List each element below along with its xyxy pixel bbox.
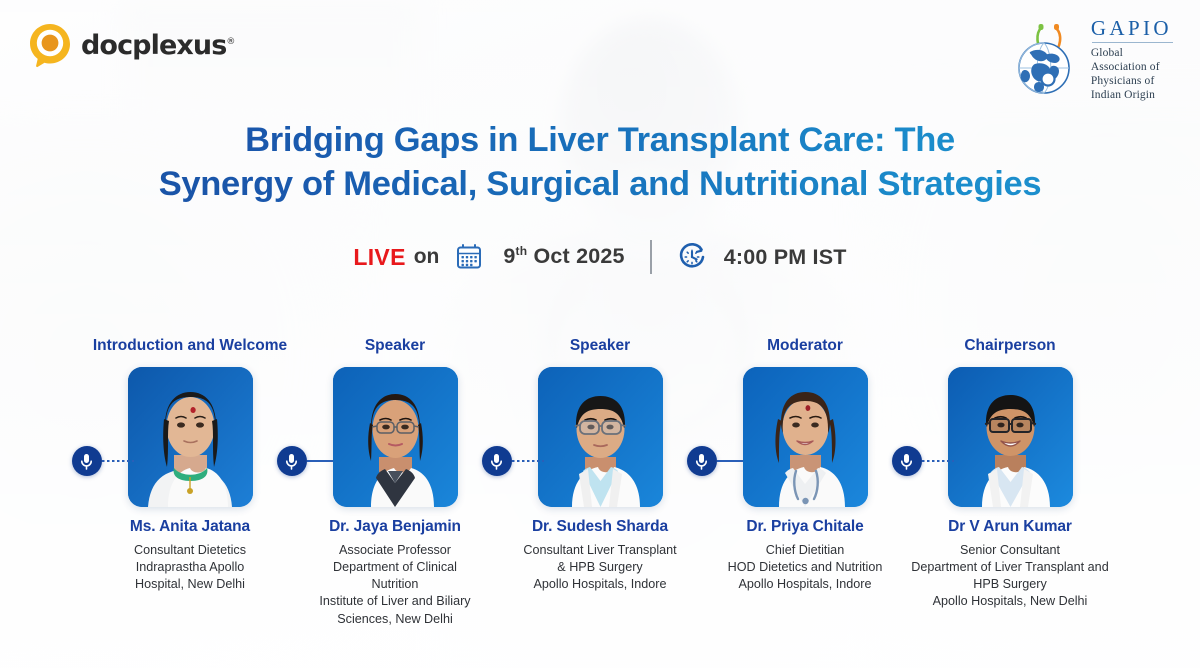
speaker-role: Speaker [498,316,703,358]
clock-icon [677,242,707,272]
event-date-rest: Oct 2025 [527,245,624,269]
speaker-card[interactable]: Introduction and Welcome [88,316,293,593]
microphone-icon [482,446,512,476]
gapio-text-block: GAPIO Global Association of Physicians o… [1091,10,1172,102]
connector-line [512,460,544,462]
gapio-logo[interactable]: GAPIO Global Association of Physicians o… [1011,10,1172,102]
speaker-card[interactable]: Speaker [498,316,703,593]
docplexus-logo[interactable]: docplexus® [28,22,235,68]
speaker-role: Speaker [293,316,498,358]
speaker-card[interactable]: Moderator [703,316,908,593]
connector-line [307,460,333,462]
event-date-day: 9 [503,245,515,269]
speaker-photo [128,367,253,507]
speaker-affiliation: Associate Professor Department of Clinic… [293,542,498,628]
speaker-photo [538,367,663,507]
microphone-icon [892,446,922,476]
on-label: on [414,245,440,269]
speaker-affiliation: Senior Consultant Department of Liver Tr… [908,542,1113,611]
calendar-icon [454,242,484,272]
speaker-card[interactable]: Speaker [293,316,498,628]
microphone-icon [72,446,102,476]
connector-line [922,460,954,462]
title-line-1: Bridging Gaps in Liver Transplant Care: … [0,118,1200,162]
gapio-acronym: GAPIO [1091,18,1172,39]
speaker-affiliation: Chief Dietitian HOD Dietetics and Nutrit… [703,542,908,593]
microphone-icon [277,446,307,476]
gapio-line-3: Physicians of [1091,74,1172,88]
speaker-name: Dr. Jaya Benjamin [293,518,498,536]
event-date-ordinal: th [516,244,528,258]
title-line-2: Synergy of Medical, Surgical and Nutriti… [0,162,1200,206]
microphone-icon [687,446,717,476]
gapio-line-1: Global [1091,46,1172,60]
registered-mark: ® [226,37,234,47]
docplexus-wordmark: docplexus® [81,30,235,61]
live-badge: LIVE [353,244,405,271]
gapio-line-2: Association of [1091,60,1172,74]
speaker-role: Introduction and Welcome [88,316,293,358]
speaker-photo [743,367,868,507]
docplexus-drop-logo-icon [28,22,72,68]
event-date: 9th Oct 2025 [503,244,624,269]
globe-stethoscope-icon [1011,14,1085,98]
connector-line [102,460,134,462]
gapio-line-4: Indian Origin [1091,88,1172,102]
speaker-affiliation: Consultant Liver Transplant & HPB Surger… [498,542,703,593]
speaker-photo [948,367,1073,507]
speaker-photo [333,367,458,507]
speaker-affiliation: Consultant Dietetics Indraprastha Apollo… [88,542,293,593]
connector-line [717,460,743,462]
speaker-name: Dr V Arun Kumar [908,518,1113,536]
page-title: Bridging Gaps in Liver Transplant Care: … [0,118,1200,206]
gapio-divider [1092,42,1173,43]
speakers-row: Introduction and Welcome [0,316,1200,628]
speaker-name: Dr. Priya Chitale [703,518,908,536]
schedule-divider [650,240,652,274]
speaker-role: Moderator [703,316,908,358]
speaker-role: Chairperson [908,316,1113,358]
speaker-name: Ms. Anita Jatana [88,518,293,536]
header: docplexus® [0,0,1200,108]
speaker-name: Dr. Sudesh Sharda [498,518,703,536]
schedule-bar: LIVE on 9th Oct 2025 [0,240,1200,274]
event-time: 4:00 PM IST [724,245,847,270]
speaker-card[interactable]: Chairperson [908,316,1113,611]
docplexus-name: docplexus [81,30,226,61]
